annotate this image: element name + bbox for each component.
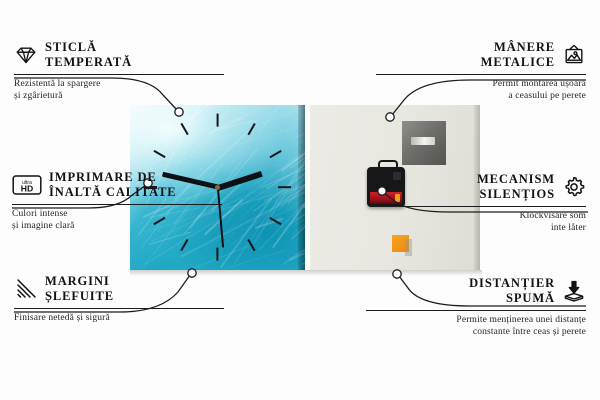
metal-hanger-bracket	[402, 121, 446, 165]
feature-high-quality-print: ultra HD IMPRIMARE DE ÎNALTĂ CALITATE Cu…	[12, 170, 222, 232]
clock-pivot	[215, 185, 220, 190]
feature-subtitle: Permit montarea ușoară a ceasului pe per…	[376, 78, 586, 103]
divider	[376, 206, 586, 207]
diagonal-lines-icon	[14, 277, 38, 301]
feature-subtitle: Permite menținerea unei distanțe constan…	[366, 314, 586, 339]
feature-title: DISTANȚIER SPUMĂ	[469, 276, 555, 306]
clock-tick	[216, 114, 218, 127]
feature-subtitle: Finisare netedă și sigură	[14, 312, 224, 324]
diamond-icon	[14, 43, 38, 67]
feature-foam-spacer: DISTANȚIER SPUMĂ Permite menținerea unei…	[366, 276, 586, 338]
feature-subtitle: Rezistentă la spargere și zgârietură	[14, 78, 224, 103]
feature-subtitle: Culori intense și imagine clară	[12, 208, 222, 233]
divider	[376, 74, 586, 75]
svg-text:HD: HD	[21, 183, 33, 193]
feature-title: IMPRIMARE DE ÎNALTĂ CALITATE	[49, 170, 177, 200]
divider	[14, 74, 224, 75]
feature-polished-edges: MARGINI ȘLEFUITE Finisare netedă și sigu…	[14, 274, 224, 324]
feature-subtitle: Klockvisare som inte låter	[376, 210, 586, 235]
clock-tick	[216, 248, 218, 261]
gear-icon	[562, 175, 586, 199]
divider	[14, 308, 224, 309]
mechanism-hook	[378, 160, 398, 172]
feather-streak	[225, 249, 287, 269]
feature-title: MECANISM SILENȚIOS	[477, 172, 555, 202]
feature-tempered-glass: STICLĂ TEMPERATĂ Rezistentă la spargere …	[14, 40, 224, 102]
hanger-slot	[411, 137, 435, 145]
foam-spacer-pad	[392, 235, 409, 252]
feature-metal-hangers: MÂNERE METALICE Permit montarea ușoară a…	[376, 40, 586, 102]
picture-frame-hanger-icon	[562, 43, 586, 67]
feature-title: MARGINI ȘLEFUITE	[45, 274, 114, 304]
ultra-hd-badge-icon: ultra HD	[12, 173, 42, 197]
feature-title: MÂNERE METALICE	[481, 40, 555, 70]
feature-title: STICLĂ TEMPERATĂ	[45, 40, 132, 70]
press-down-pad-icon	[562, 279, 586, 303]
divider	[12, 204, 222, 205]
feature-silent-mechanism: MECANISM SILENȚIOS Klockvisare som inte …	[376, 172, 586, 234]
infographic-canvas: STICLĂ TEMPERATĂ Rezistentă la spargere …	[0, 0, 600, 400]
divider	[366, 310, 586, 311]
